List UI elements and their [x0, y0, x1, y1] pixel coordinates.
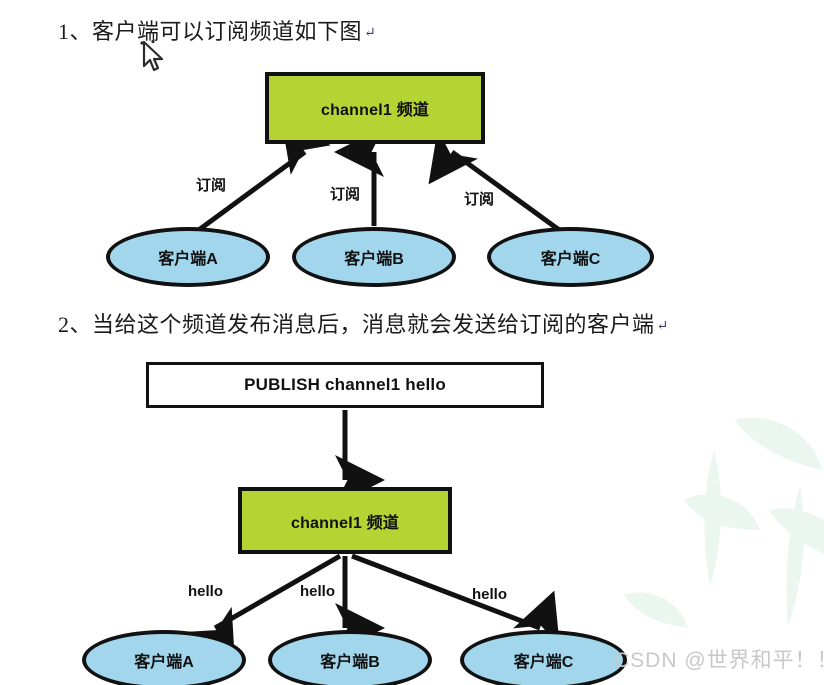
edge-label-hello-c: hello: [472, 586, 507, 603]
client-node-b-subscribe[interactable]: 客户端B: [292, 227, 456, 287]
client-node-a-subscribe[interactable]: 客户端A: [106, 227, 270, 287]
edge-label-hello-b: hello: [300, 583, 335, 600]
pilcrow-mark-2: ↵: [657, 319, 669, 334]
page-heading-1: 1、客户端可以订阅频道如下图↵: [58, 14, 376, 46]
publish-command-box[interactable]: PUBLISH channel1 hello: [146, 362, 544, 408]
edge-label-hello-a: hello: [188, 583, 223, 600]
edge-label-subscribe-b: 订阅: [330, 183, 360, 204]
client-node-c-subscribe[interactable]: 客户端C: [487, 227, 654, 287]
edge-label-subscribe-c: 订阅: [464, 188, 494, 209]
csdn-watermark: CSDN @世界和平！！！: [614, 644, 824, 674]
heading-1-text: 1、客户端可以订阅频道如下图: [58, 19, 362, 44]
screenshot-canvas: 1、客户端可以订阅频道如下图↵ channel1 频道 客户端A 客户端B 客户…: [0, 0, 824, 685]
client-node-a-publish[interactable]: 客户端A: [82, 630, 246, 685]
client-node-b-publish[interactable]: 客户端B: [268, 630, 432, 685]
edge-label-subscribe-a: 订阅: [196, 174, 226, 195]
channel-box-subscribe[interactable]: channel1 频道: [265, 72, 485, 144]
pilcrow-mark-1: ↵: [364, 26, 376, 41]
client-node-c-publish[interactable]: 客户端C: [460, 630, 627, 685]
channel-box-publish[interactable]: channel1 频道: [238, 487, 452, 554]
page-heading-2: 2、当给这个频道发布消息后，消息就会发送给订阅的客户端↵: [58, 307, 669, 339]
heading-2-text: 2、当给这个频道发布消息后，消息就会发送给订阅的客户端: [58, 312, 655, 337]
